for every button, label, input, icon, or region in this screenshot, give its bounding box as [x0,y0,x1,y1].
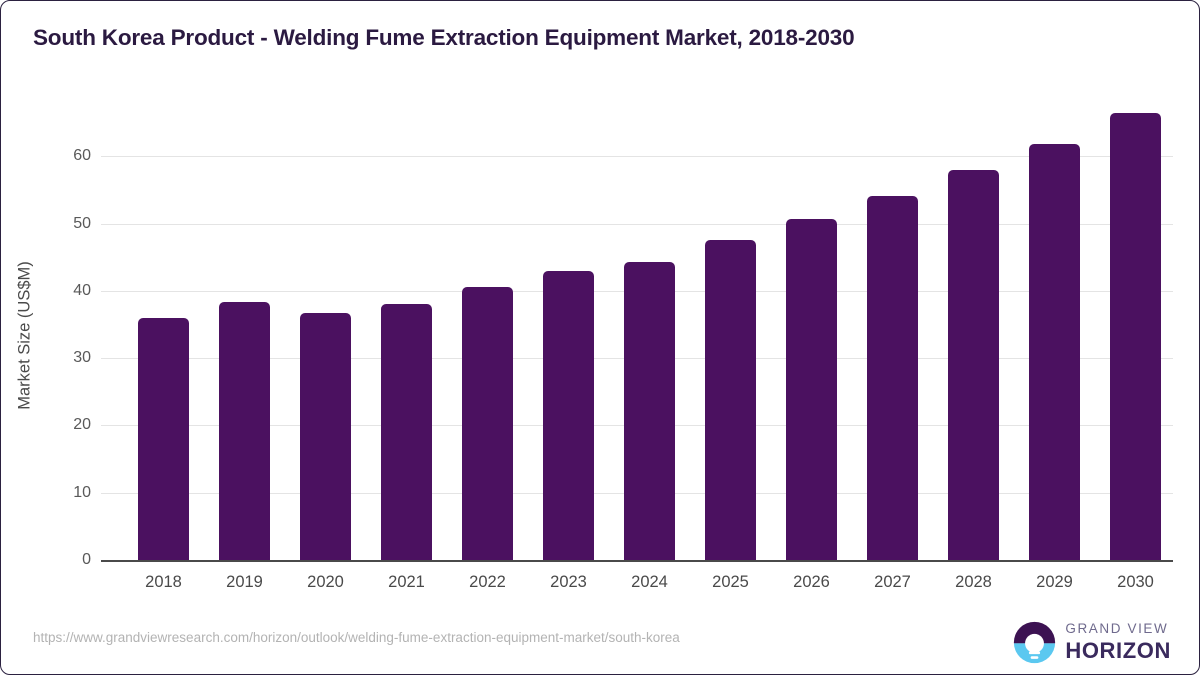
y-axis-tick-label: 10 [73,484,91,502]
logo-text: GRAND VIEW HORIZON [1065,622,1171,662]
chart-page: South Korea Product - Welding Fume Extra… [0,0,1200,675]
plot-area [123,91,1173,560]
gridline-tick [101,493,123,494]
bar[interactable] [705,240,756,560]
gridline-tick [101,358,123,359]
x-axis-tick-label: 2020 [285,573,366,592]
x-axis-tick-label: 2024 [609,573,690,592]
x-axis-line [101,560,1173,562]
logo-line-2: HORIZON [1065,640,1171,662]
bar[interactable] [948,170,999,560]
x-axis-ticks: 2018201920202021202220232024202520262027… [123,573,1173,603]
bar[interactable] [624,262,675,560]
x-axis-tick-label: 2018 [123,573,204,592]
y-axis-tick-label: 20 [73,416,91,434]
bar[interactable] [138,318,189,560]
bar[interactable] [867,196,918,560]
bar[interactable] [543,271,594,560]
y-axis-tick-label: 40 [73,282,91,300]
bar[interactable] [219,302,270,560]
bar[interactable] [300,313,351,560]
x-axis-tick-label: 2023 [528,573,609,592]
bar[interactable] [786,219,837,560]
source-url[interactable]: https://www.grandviewresearch.com/horizo… [33,630,680,645]
gridline [123,224,1173,225]
x-axis-tick-label: 2029 [1014,573,1095,592]
y-axis-tick-label: 60 [73,147,91,165]
x-axis-tick-label: 2021 [366,573,447,592]
x-axis-tick-label: 2025 [690,573,771,592]
page-title: South Korea Product - Welding Fume Extra… [33,25,854,51]
gridline-tick [101,425,123,426]
bar[interactable] [1110,113,1161,560]
logo-line-1: GRAND VIEW [1065,622,1171,636]
gridline-tick [101,291,123,292]
y-axis-tick-label: 50 [73,215,91,233]
y-axis-ticks: 0102030405060 [1,1,91,675]
gridline [123,156,1173,157]
bar[interactable] [462,287,513,560]
horizon-logo-icon [1013,621,1056,664]
x-axis-tick-label: 2022 [447,573,528,592]
brand-logo: GRAND VIEW HORIZON [1013,619,1171,665]
x-axis-tick-label: 2019 [204,573,285,592]
y-axis-tick-label: 30 [73,349,91,367]
x-axis-tick-label: 2028 [933,573,1014,592]
x-axis-tick-label: 2027 [852,573,933,592]
gridline-tick [101,156,123,157]
x-axis-tick-label: 2030 [1095,573,1176,592]
bar[interactable] [1029,144,1080,561]
y-axis-tick-label: 0 [82,551,91,569]
gridline-tick [101,224,123,225]
bar[interactable] [381,304,432,560]
x-axis-tick-label: 2026 [771,573,852,592]
